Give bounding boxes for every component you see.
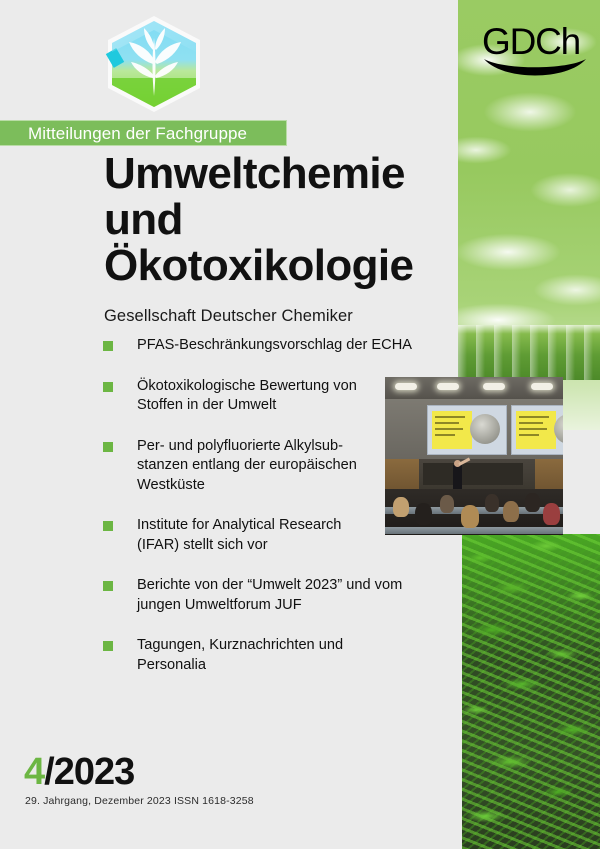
contents-list: PFAS-Beschränkungsvorschlag der ECHA Öko… (103, 336, 443, 696)
audience-head (543, 503, 560, 525)
contents-item-label: Ökotoxikologische Bewertung von Stoffen … (137, 378, 357, 414)
issue-number-value: 4 (24, 751, 44, 793)
title-line-1: Umweltchemie (104, 152, 454, 196)
slide-image (470, 414, 500, 444)
wood-panel-right (535, 459, 563, 493)
fachgruppe-hexagon-logo (101, 12, 207, 116)
projection-screen-right (511, 405, 563, 455)
contents-item[interactable]: Institute for Analytical Research (IFAR)… (103, 516, 443, 555)
issue-separator: / (44, 751, 54, 793)
bullet-square-icon (103, 341, 113, 351)
contents-item-label: Tagungen, Kurznachrichten und Personalia (137, 637, 343, 673)
contents-item[interactable]: Tagungen, Kurznachrichten und Personalia (103, 636, 443, 675)
journal-cover: GDCh (0, 0, 600, 849)
bullet-square-icon (103, 581, 113, 591)
contents-item-label: Berichte von der “Umwelt 2023” und vom j… (137, 577, 402, 613)
title-line-3: Ökotoxikologie (104, 244, 454, 288)
contents-item[interactable]: PFAS-Beschränkungsvorschlag der ECHA (103, 336, 443, 356)
journal-title: Umweltchemie und Ökotoxikologie (104, 152, 454, 288)
audience-head (503, 501, 519, 522)
audience-head (461, 505, 479, 528)
audience-head (485, 494, 499, 512)
gdch-smile-icon (483, 57, 587, 83)
imprint-line: 29. Jahrgang, Dezember 2023 ISSN 1618-32… (25, 795, 254, 807)
gdch-logo: GDCh (482, 22, 588, 86)
banner-label: Mitteilungen der Fachgruppe (28, 124, 247, 144)
issue-year: 2023 (54, 751, 135, 793)
bullet-square-icon (103, 641, 113, 651)
contents-item-label: Institute for Analytical Research (IFAR)… (137, 517, 341, 553)
contents-item[interactable]: Berichte von der “Umwelt 2023” und vom j… (103, 576, 443, 615)
contents-item[interactable]: Per- und polyfluorierte Alkylsub- stanze… (103, 437, 443, 496)
gdch-logo-text: GDCh (482, 22, 588, 62)
contents-item-label: PFAS-Beschränkungsvorschlag der ECHA (137, 337, 412, 353)
title-line-2: und (104, 198, 454, 242)
ceiling-light (531, 383, 553, 390)
bullet-square-icon (103, 382, 113, 392)
contents-item-label: Per- und polyfluorierte Alkylsub- stanze… (137, 438, 357, 493)
bullet-square-icon (103, 442, 113, 452)
society-subtitle: Gesellschaft Deutscher Chemiker (104, 307, 353, 326)
fachgruppe-banner: Mitteilungen der Fachgruppe (0, 120, 287, 146)
algae-photo (462, 534, 600, 849)
bullet-square-icon (103, 521, 113, 531)
contents-item[interactable]: Ökotoxikologische Bewertung von Stoffen … (103, 377, 443, 416)
sea-photo (458, 325, 600, 380)
issue-number: 4/2023 (24, 752, 134, 792)
ceiling-light (483, 383, 505, 390)
audience-head (525, 493, 540, 512)
